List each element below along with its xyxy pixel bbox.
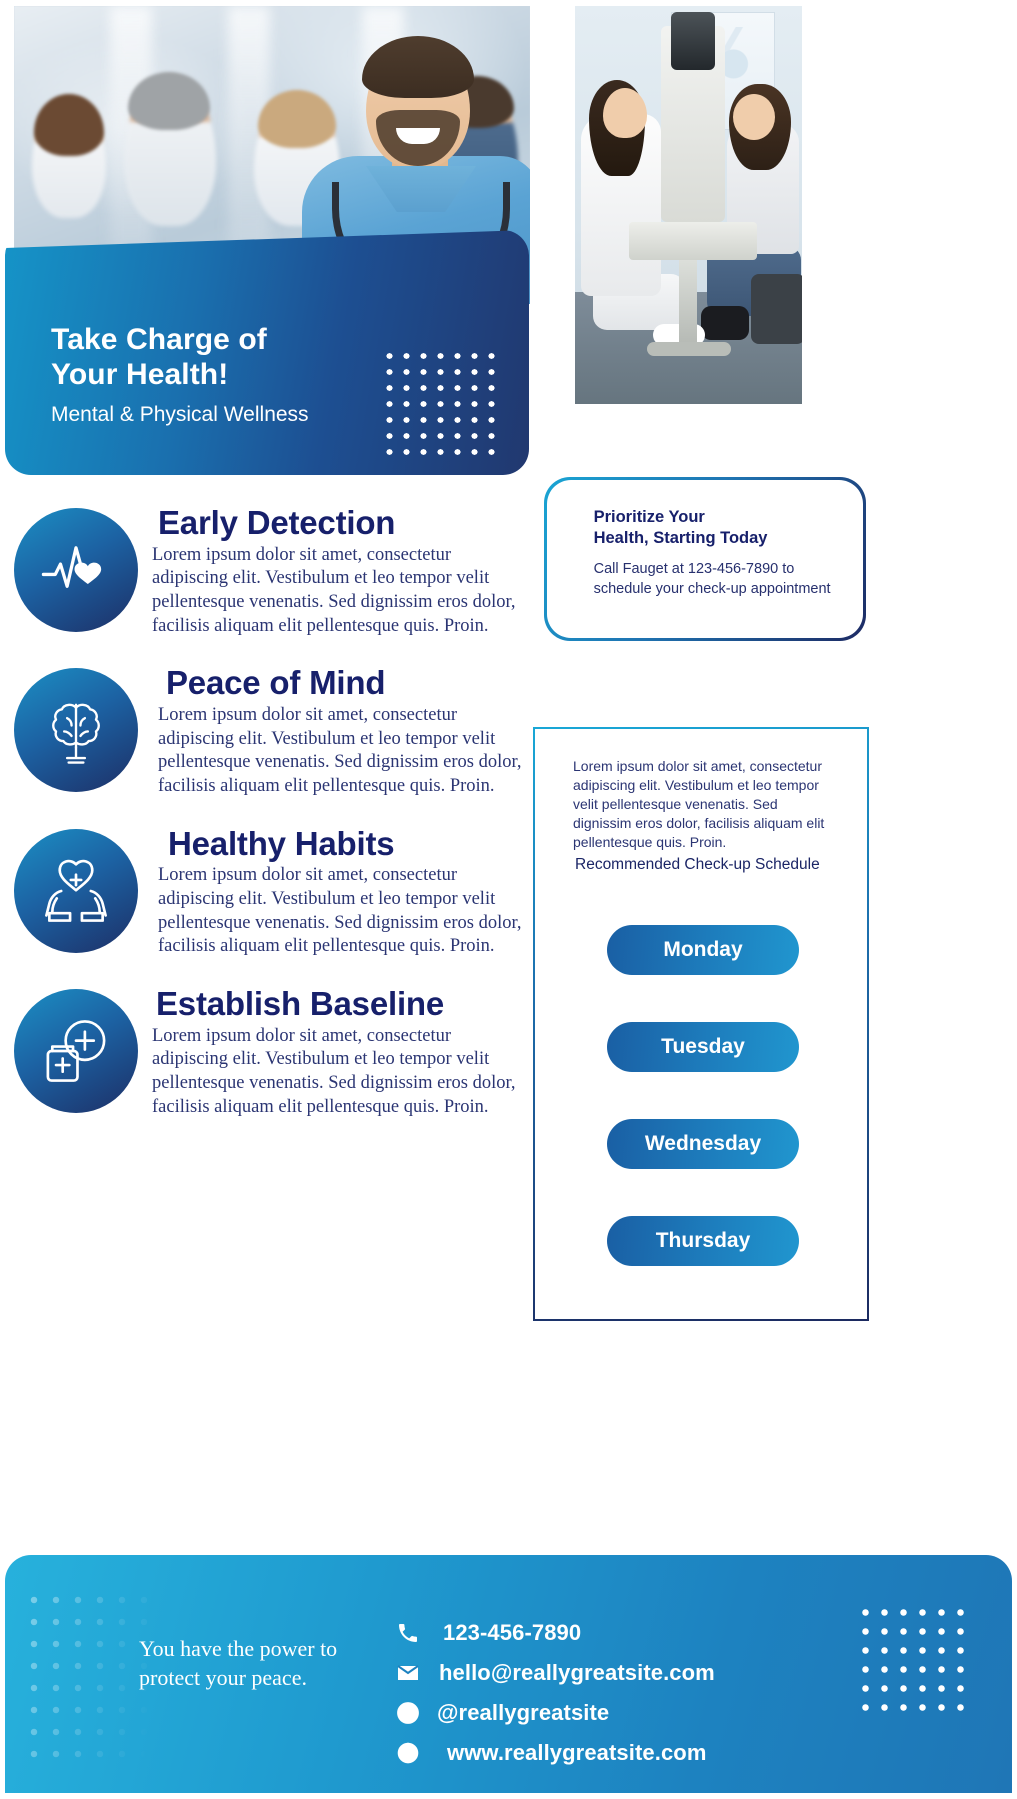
day-button-thursday[interactable]: Thursday (607, 1216, 799, 1266)
feature-title: Early Detection (158, 506, 530, 541)
contact-text: www.reallygreatsite.com (447, 1740, 706, 1766)
medical-kit-icon (14, 989, 138, 1113)
globe-icon (391, 1741, 425, 1765)
day-button-wednesday[interactable]: Wednesday (607, 1119, 799, 1169)
instagram-icon (391, 1701, 425, 1725)
schedule-panel: Lorem ipsum dolor sit amet, consectetur … (533, 727, 869, 1321)
heartbeat-icon (14, 508, 138, 632)
contact-text: @reallygreatsite (437, 1700, 609, 1726)
phone-icon (391, 1621, 425, 1645)
callout-box: Prioritize Your Health, Starting Today C… (544, 477, 866, 641)
feature-body: Lorem ipsum dolor sit amet, consectetur … (152, 544, 530, 639)
feature-title: Establish Baseline (156, 987, 530, 1022)
feature-item: Peace of Mind Lorem ipsum dolor sit amet… (14, 658, 530, 798)
contact-text: hello@reallygreatsite.com (439, 1660, 715, 1686)
contact-list: 123-456-7890 hello@reallygreatsite.com @… (391, 1615, 715, 1775)
contact-row-phone[interactable]: 123-456-7890 (391, 1615, 715, 1651)
contact-text: 123-456-7890 (443, 1620, 581, 1646)
eye-examination-photo (575, 6, 802, 404)
day-button-list: Monday Tuesday Wednesday Thursday (535, 925, 867, 1313)
footer-tagline: You have the power to protect your peace… (139, 1635, 389, 1692)
feature-body: Lorem ipsum dolor sit amet, consectetur … (158, 864, 530, 959)
hero-banner: Take Charge of Your Health! Mental & Phy… (5, 230, 529, 475)
envelope-icon (391, 1661, 425, 1685)
feature-body: Lorem ipsum dolor sit amet, consectetur … (152, 1025, 530, 1120)
feature-list: Early Detection Lorem ipsum dolor sit am… (14, 498, 530, 1139)
contact-row-email[interactable]: hello@reallygreatsite.com (391, 1655, 715, 1691)
feature-title: Peace of Mind (166, 666, 530, 701)
feature-item: Establish Baseline Lorem ipsum dolor sit… (14, 979, 530, 1119)
hands-heart-icon (14, 829, 138, 953)
dot-grid-decoration (381, 348, 499, 458)
day-button-tuesday[interactable]: Tuesday (607, 1022, 799, 1072)
brain-icon (14, 668, 138, 792)
feature-item: Healthy Habits Lorem ipsum dolor sit ame… (14, 819, 530, 959)
poster-root: Take Charge of Your Health! Mental & Phy… (0, 0, 1017, 1799)
feature-title: Healthy Habits (168, 827, 530, 862)
halftone-decoration (23, 1589, 153, 1764)
schedule-heading: Recommended Check-up Schedule (575, 856, 855, 874)
footer: You have the power to protect your peace… (5, 1555, 1012, 1793)
schedule-body: Lorem ipsum dolor sit amet, consectetur … (573, 757, 828, 851)
feature-item: Early Detection Lorem ipsum dolor sit am… (14, 498, 530, 638)
dot-grid-decoration (856, 1603, 966, 1719)
day-button-monday[interactable]: Monday (607, 925, 799, 975)
contact-row-instagram[interactable]: @reallygreatsite (391, 1695, 715, 1731)
callout-title: Prioritize Your Health, Starting Today (594, 507, 842, 551)
callout-body: Call Fauget at 123-456-7890 to schedule … (594, 560, 842, 599)
feature-body: Lorem ipsum dolor sit amet, consectetur … (158, 704, 530, 799)
contact-row-website[interactable]: www.reallygreatsite.com (391, 1735, 715, 1771)
